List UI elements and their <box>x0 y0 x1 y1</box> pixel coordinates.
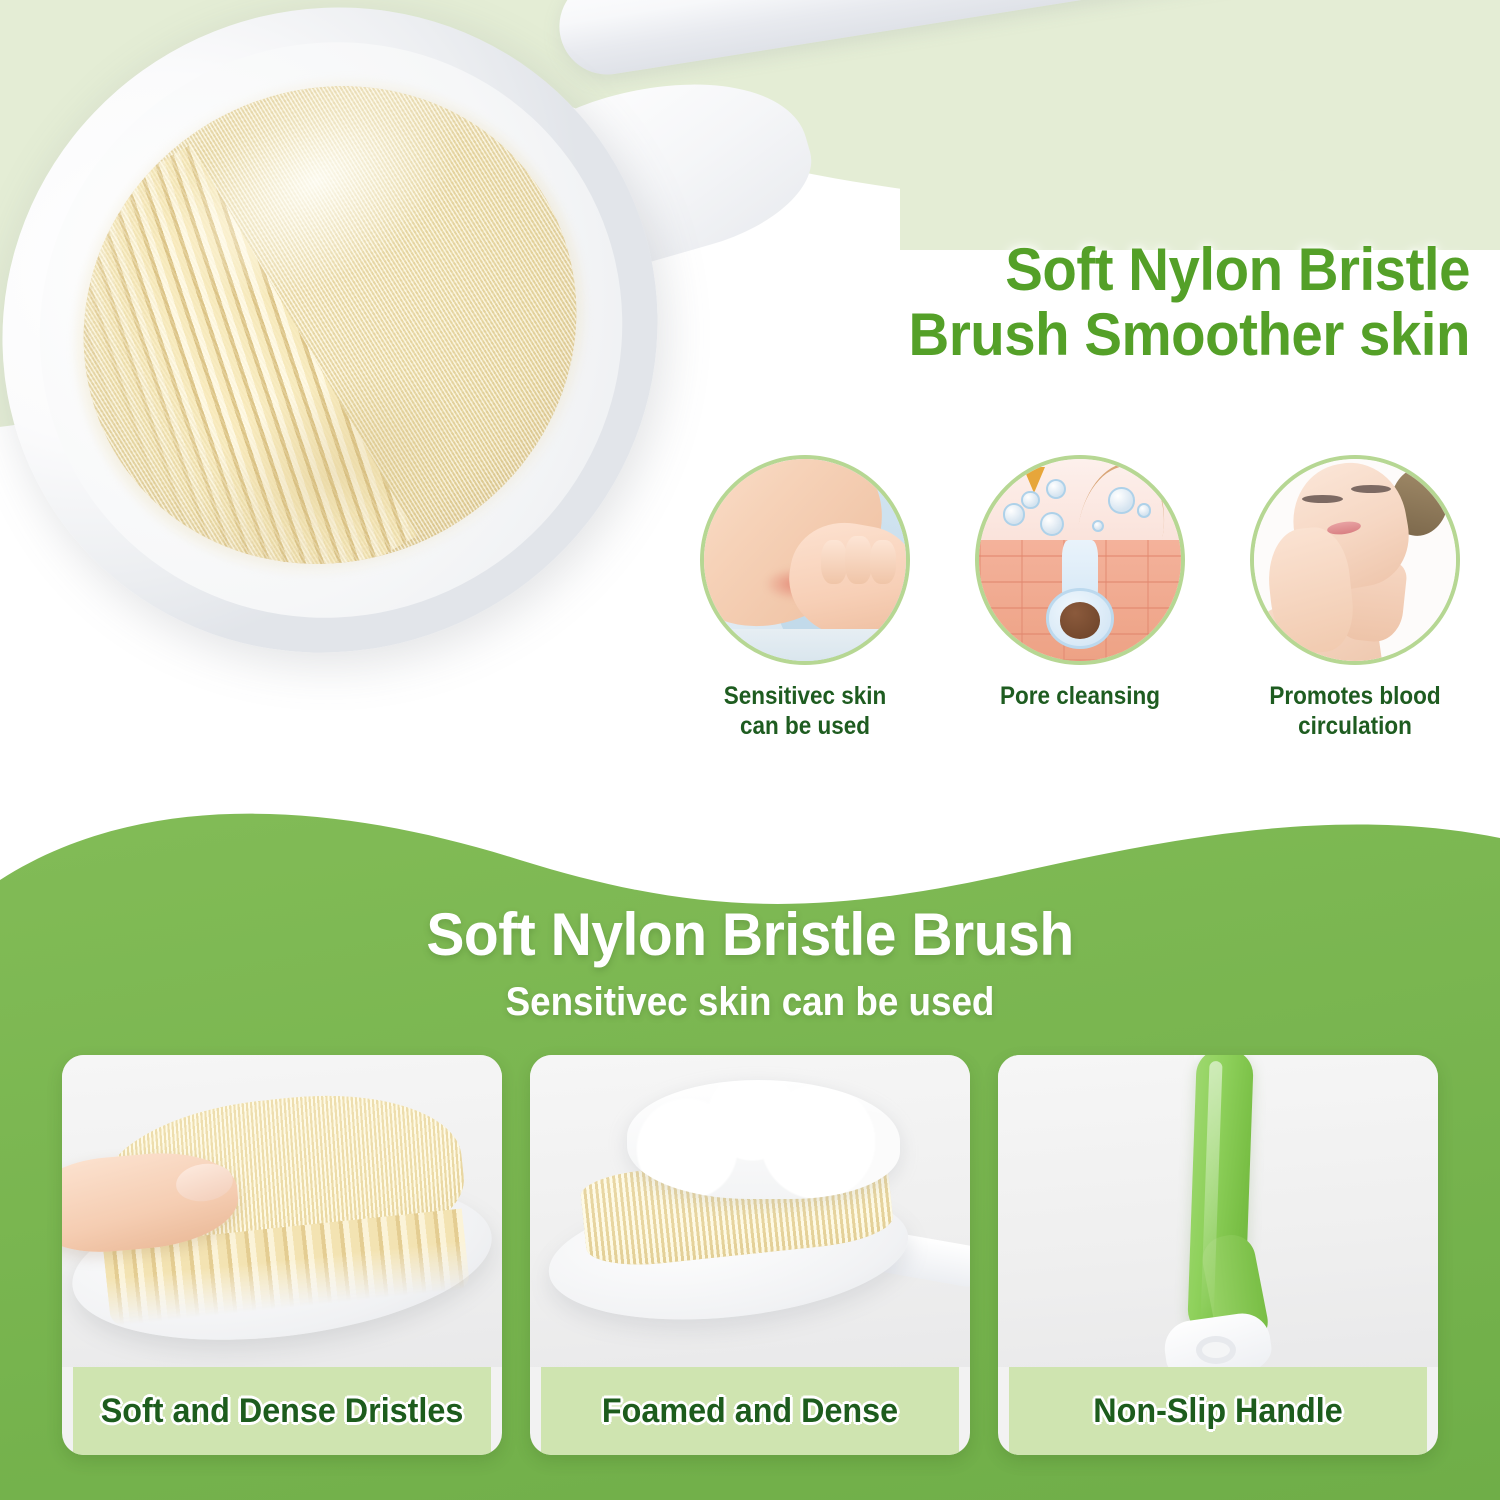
card-caption: Foamed and Dense <box>541 1367 959 1455</box>
feature-card-non-slip-handle[interactable]: Non-Slip Handle <box>998 1055 1438 1455</box>
top-section: Soft Nylon Bristle Brush Smoother skin <box>0 0 1500 880</box>
headline: Soft Nylon Bristle Brush Smoother skin <box>868 238 1470 368</box>
green-handle-photo <box>998 1055 1438 1367</box>
feature-label-line-1: Sensitivec skin <box>693 681 918 711</box>
card-caption: Soft and Dense Dristles <box>73 1367 491 1455</box>
feature-item-blood-circulation: Promotes blood circulation <box>1230 455 1480 795</box>
brush-product-photo <box>0 0 780 790</box>
feature-card-foamed-and-dense[interactable]: Foamed and Dense <box>530 1055 970 1455</box>
card-caption: Non-Slip Handle <box>1009 1367 1427 1455</box>
scratching-arm-icon <box>700 455 910 665</box>
section-title: Soft Nylon Bristle Brush <box>38 900 1463 969</box>
headline-line-2: Brush Smoother skin <box>868 303 1470 368</box>
feature-label-line-1: Pore cleansing <box>968 681 1193 711</box>
feature-label-line-1: Promotes blood <box>1243 681 1468 711</box>
feature-item-sensitive-skin: Sensitivec skin can be used <box>680 455 930 795</box>
foam-on-brush-photo <box>530 1055 970 1367</box>
feature-list: Sensitivec skin can be used <box>680 455 1480 795</box>
feature-label-pore-cleansing: Pore cleansing <box>968 681 1193 711</box>
pore-cleansing-icon <box>975 455 1185 665</box>
feature-label-sensitive-skin: Sensitivec skin can be used <box>693 681 918 741</box>
headline-line-1: Soft Nylon Bristle <box>1005 236 1470 303</box>
feature-card-list: Soft and Dense Dristles Foamed and Dense <box>62 1055 1438 1455</box>
feature-label-line-2: can be used <box>693 711 918 741</box>
feature-label-line-2: circulation <box>1243 711 1468 741</box>
product-marketing-image: Soft Nylon Bristle Brush Smoother skin <box>0 0 1500 1500</box>
feature-label-blood-circulation: Promotes blood circulation <box>1243 681 1468 741</box>
feature-card-soft-dense-bristles[interactable]: Soft and Dense Dristles <box>62 1055 502 1455</box>
section-subtitle: Sensitivec skin can be used <box>60 980 1440 1025</box>
finger-pressing-bristles-photo <box>62 1055 502 1367</box>
feature-item-pore-cleansing: Pore cleansing <box>955 455 1205 795</box>
woman-face-icon <box>1250 455 1460 665</box>
